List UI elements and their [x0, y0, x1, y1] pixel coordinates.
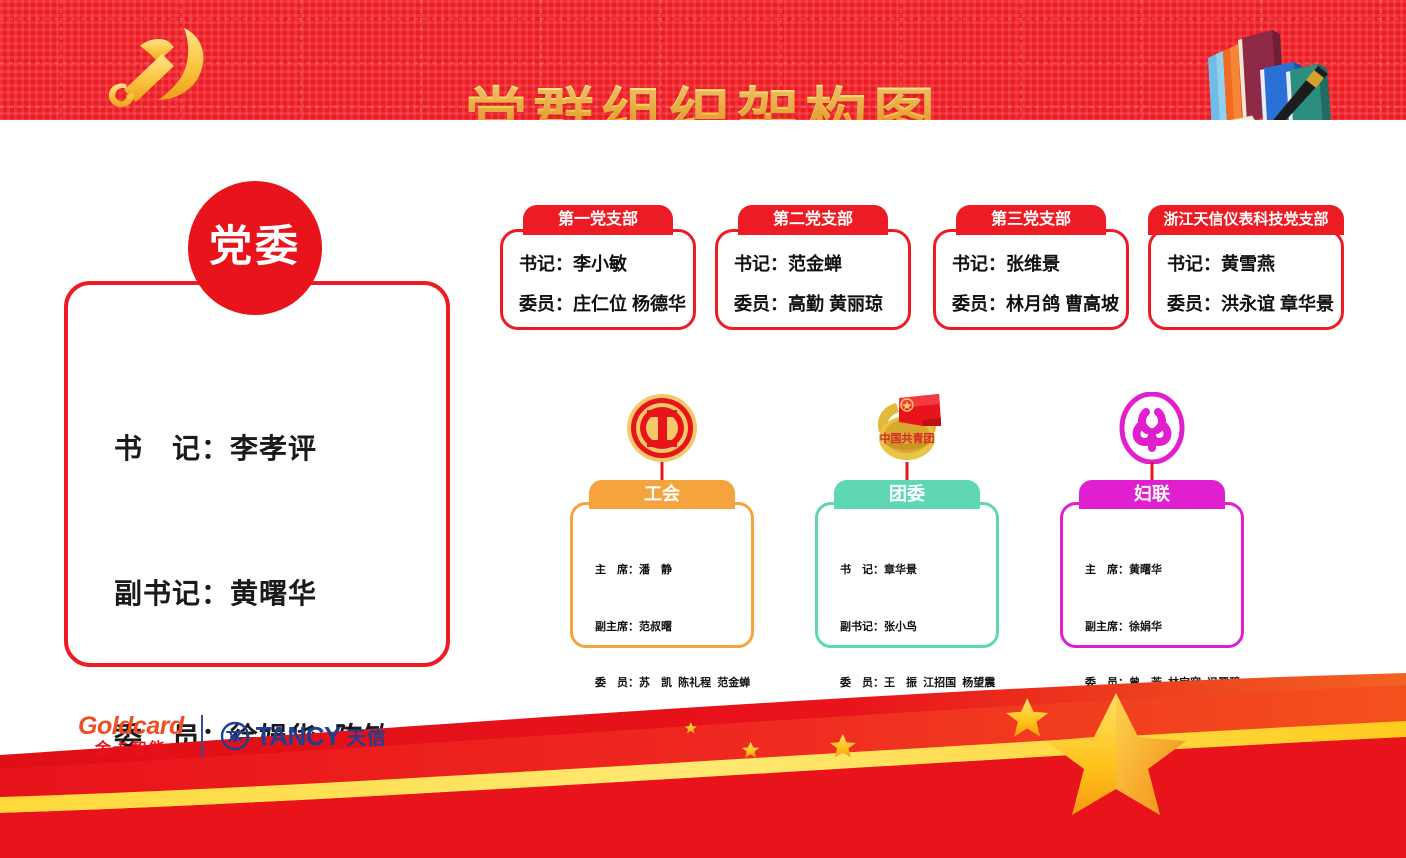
party-committee-badge-label: 党委: [209, 226, 301, 269]
womens-federation-emblem-icon: [1116, 392, 1188, 464]
org-youth-league-body: 书 记：章华景 副书记：张小鸟 委 员：王 振 江招国 杨望震 章聪聪 张文豪: [815, 502, 999, 648]
goldcard-logo: Goldcard 金卡智能: [78, 714, 184, 758]
org-youth-league-row-1: 书 记：章华景: [840, 561, 988, 580]
goldcard-wordmark-cn: 金卡智能: [95, 742, 167, 758]
header-banner: 党群组织架构图: [0, 0, 1406, 120]
branch-1-members: 委员：庄仁位 杨德华: [519, 290, 693, 316]
branch-3-body: 书记：张维景 委员：林月鸽 曹高坡: [933, 229, 1129, 330]
tancy-circle-logo-icon: [220, 721, 250, 751]
trade-union-emblem-icon: [625, 392, 699, 464]
org-womens-federation-row-2: 副主席：徐娟华: [1085, 618, 1233, 637]
communist-youth-league-emblem-icon: 中国共青团: [865, 392, 949, 464]
footer-logos: Goldcard 金卡智能 TANCY 天信: [78, 714, 387, 758]
branch-2-title: 第二党支部: [738, 205, 888, 235]
org-union-title: 工会: [589, 480, 735, 509]
branch-3-members: 委员：林月鸽 曹高坡: [952, 290, 1126, 316]
branch-4-secretary: 书记：黄雪燕: [1167, 250, 1341, 276]
org-womens-federation: 妇联 主 席：黄曙华 副主席：徐娟华 委 员：曾 芳 林宝容 冯翠碧 杨小巧 陈…: [1060, 392, 1244, 648]
org-womens-federation-body: 主 席：黄曙华 副主席：徐娟华 委 员：曾 芳 林宝容 冯翠碧 杨小巧 陈爱宝: [1060, 502, 1244, 648]
party-committee-box: 书 记：李孝评 副书记：黄曙华 委 员：徐娟华 陈敏 黄邦辉 柳业成 陶文文 黄…: [64, 281, 450, 667]
org-union-row-1: 主 席：潘 静: [595, 561, 743, 580]
branch-2-members: 委员：高勤 黄丽琼: [734, 290, 908, 316]
header-white-notch: [1231, 120, 1406, 156]
pc-row-deputy: 副书记：黄曙华: [114, 570, 436, 618]
tancy-logo: TANCY 天信: [220, 721, 387, 752]
branch-4: 浙江天信仪表科技党支部 书记：黄雪燕 委员：洪永谊 章华景: [1148, 205, 1344, 330]
org-womens-federation-stem: [1151, 462, 1154, 482]
branch-3: 第三党支部 书记：张维景 委员：林月鸽 曹高坡: [933, 205, 1129, 330]
org-womens-federation-row-1: 主 席：黄曙华: [1085, 561, 1233, 580]
branch-4-body: 书记：黄雪燕 委员：洪永谊 章华景: [1148, 229, 1344, 330]
poster-canvas: 党群组织架构图: [0, 0, 1406, 858]
org-womens-federation-title: 妇联: [1079, 480, 1225, 509]
footer-decoration: [0, 673, 1406, 858]
branch-1-title: 第一党支部: [523, 205, 673, 235]
tancy-wordmark-en: TANCY: [256, 721, 341, 752]
branch-2-secretary: 书记：范金蝉: [734, 250, 908, 276]
branch-2-body: 书记：范金蝉 委员：高勤 黄丽琼: [715, 229, 911, 330]
logo-divider: [201, 715, 203, 757]
branch-3-title: 第三党支部: [956, 205, 1106, 235]
hammer-sickle-icon: [96, 22, 224, 114]
org-youth-league-row-2: 副书记：张小鸟: [840, 618, 988, 637]
org-union-body: 主 席：潘 静 副主席：范叔曙 委 员：苏 凯 陈礼程 范金蝉 池彬彬 候欣欣 …: [570, 502, 754, 648]
org-union-stem: [661, 462, 664, 482]
org-union-row-2: 副主席：范叔曙: [595, 618, 743, 637]
branch-4-title: 浙江天信仪表科技党支部: [1148, 205, 1344, 235]
org-union: 工会 主 席：潘 静 副主席：范叔曙 委 员：苏 凯 陈礼程 范金蝉 池彬彬 候…: [570, 392, 754, 648]
books-and-pen-icon: [1190, 10, 1360, 120]
branch-3-secretary: 书记：张维景: [952, 250, 1126, 276]
goldcard-wordmark-en: Goldcard: [78, 714, 184, 739]
pc-row-secretary: 书 记：李孝评: [114, 425, 436, 473]
svg-text:中国共青团: 中国共青团: [880, 431, 935, 445]
org-youth-league-title: 团委: [834, 480, 980, 509]
branch-1-secretary: 书记：李小敏: [519, 250, 693, 276]
branch-1: 第一党支部 书记：李小敏 委员：庄仁位 杨德华: [500, 205, 696, 330]
org-youth-league: 中国共青团 团委 书 记：章华景 副书记：张小鸟 委 员：王 振 江招国 杨望震…: [815, 392, 999, 648]
branch-2: 第二党支部 书记：范金蝉 委员：高勤 黄丽琼: [715, 205, 911, 330]
branch-4-members: 委员：洪永谊 章华景: [1167, 290, 1341, 316]
org-youth-league-stem: [906, 462, 909, 482]
party-committee-badge: 党委: [188, 181, 322, 315]
tancy-wordmark-cn: 天信: [347, 723, 387, 750]
branch-1-body: 书记：李小敏 委员：庄仁位 杨德华: [500, 229, 696, 330]
